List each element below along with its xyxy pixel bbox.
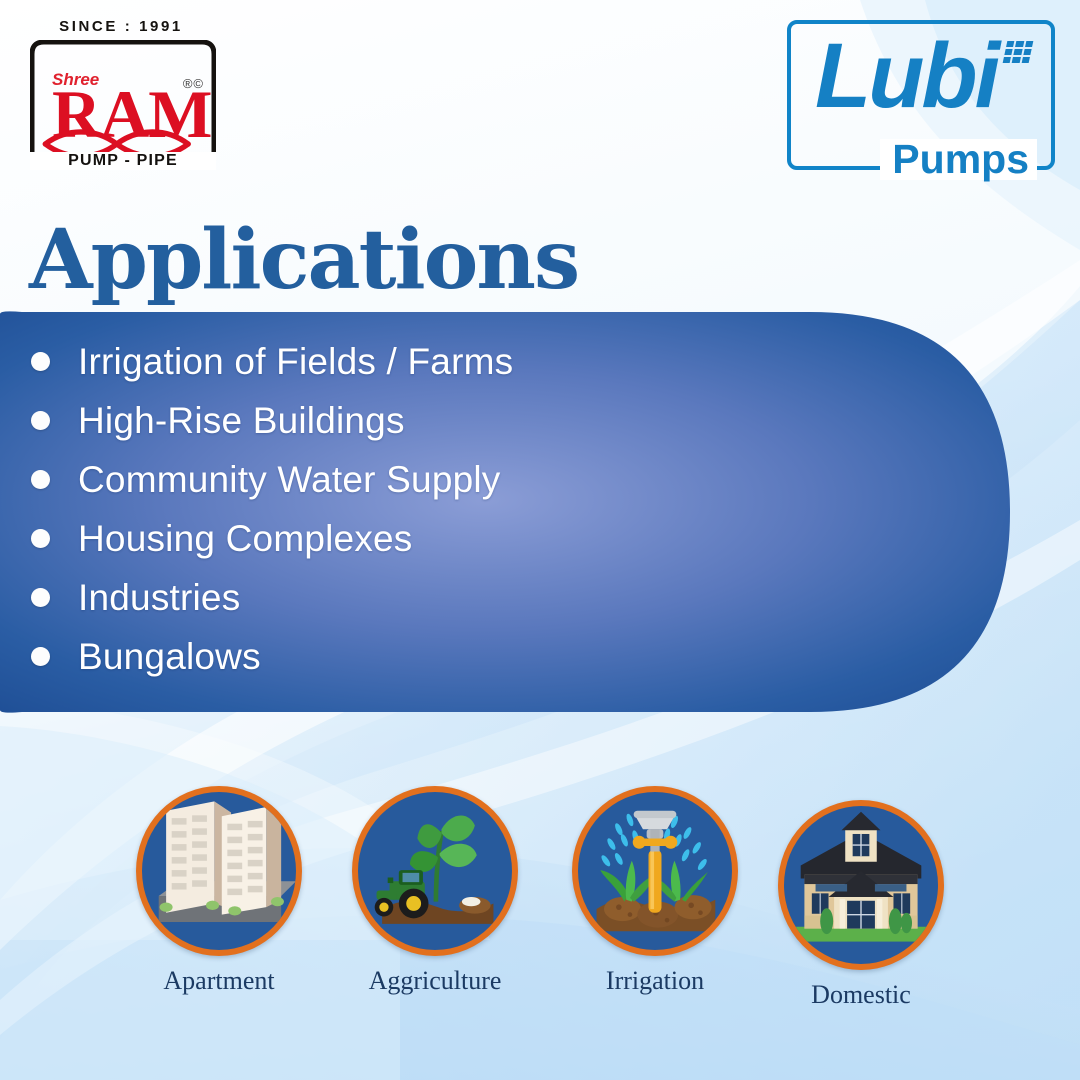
list-item-label: Irrigation of Fields / Farms [78,341,513,383]
list-item[interactable]: Housing Complexes [31,509,1012,568]
segment-label: Domestic [766,980,956,1010]
bullet-dot-icon [31,411,50,430]
list-item-label: High-Rise Buildings [78,400,405,442]
segment-apartment[interactable]: Apartment [124,786,314,996]
list-item-label: Community Water Supply [78,459,501,501]
lubi-wordmark: Lubi [815,30,997,122]
shree-ram-logo: SINCE : 1991 Shree RAM ®© PUMP - PIPE [16,18,226,170]
applications-list: Irrigation of Fields / Farms High-Rise B… [0,310,1012,714]
pump-pipe-tagline: PUMP - PIPE [30,152,216,170]
list-item-label: Housing Complexes [78,518,413,560]
bullet-dot-icon [31,470,50,489]
list-item[interactable]: Bungalows [31,627,1012,686]
segment-label: Aggriculture [340,966,530,996]
list-item-label: Bungalows [78,636,261,678]
list-item[interactable]: Community Water Supply [31,450,1012,509]
bullet-dot-icon [31,588,50,607]
dot-grid-icon [1003,41,1034,63]
logo-frame: Shree RAM ®© PUMP - PIPE [30,40,216,166]
trademark-icon: ®© [183,76,204,91]
sprinkler-icon [572,786,738,956]
house-icon [778,800,944,970]
tractor-plant-icon [352,786,518,956]
page-title: Applications [29,219,578,301]
poster-canvas: SINCE : 1991 Shree RAM ®© PUMP - PIPE Lu… [0,0,1080,1080]
list-item[interactable]: Industries [31,568,1012,627]
segment-label: Irrigation [560,966,750,996]
segment-icons: Apartment [0,786,1080,1026]
list-item[interactable]: High-Rise Buildings [31,391,1012,450]
list-item[interactable]: Irrigation of Fields / Farms [31,332,1012,391]
pumps-text: Pumps [880,139,1037,180]
segment-label: Apartment [124,966,314,996]
since-label: SINCE : 1991 [16,18,226,35]
list-item-label: Industries [78,577,240,619]
bullet-dot-icon [31,529,50,548]
segment-irrigation[interactable]: Irrigation [560,786,750,996]
segment-domestic[interactable]: Domestic [766,800,956,1010]
applications-panel: Irrigation of Fields / Farms High-Rise B… [0,310,1012,714]
lubi-pumps-logo: Lubi Pumps [787,20,1055,170]
bullet-dot-icon [31,647,50,666]
apartment-buildings-icon [136,786,302,956]
bullet-dot-icon [31,352,50,371]
segment-agriculture[interactable]: Aggriculture [340,786,530,996]
